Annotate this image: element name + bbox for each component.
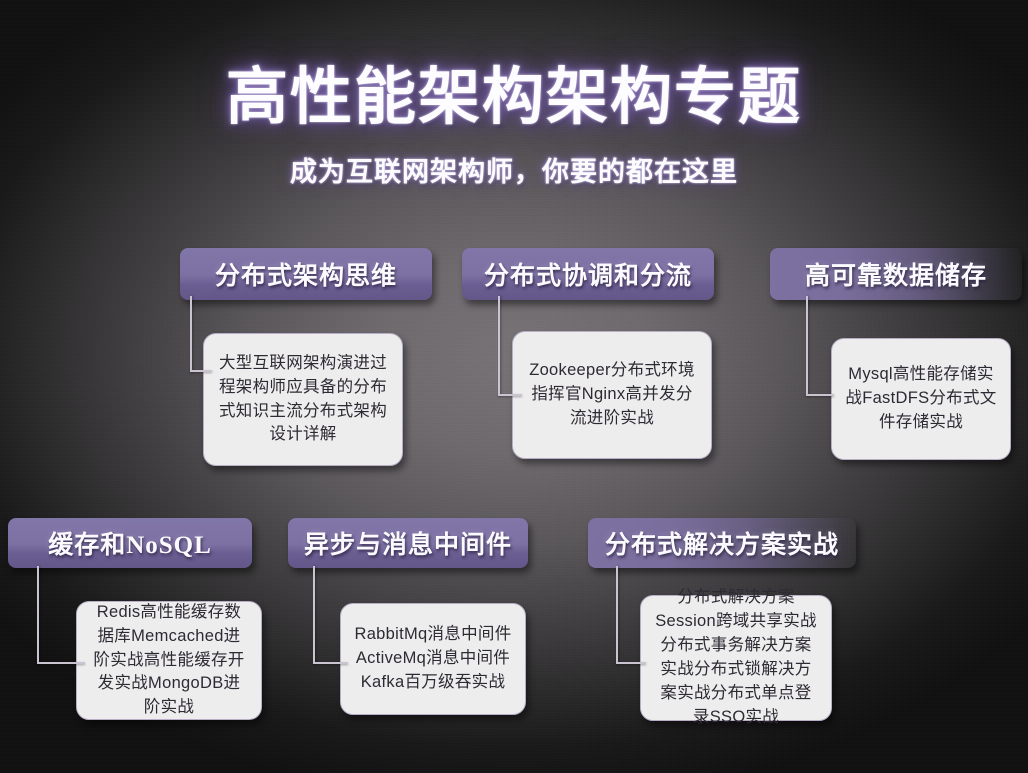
node-card-highly-reliable-data-storage[interactable]: Mysql高性能存储实战FastDFS分布式文件存储实战 (831, 338, 1011, 460)
page-subtitle: 成为互联网架构师，你要的都在这里 (0, 150, 1028, 189)
node-header-label: 分布式架构思维 (209, 256, 403, 292)
node-header-highly-reliable-data-storage[interactable]: 高可靠数据储存 (770, 248, 1022, 300)
node-header-label: 分布式解决方案实战 (599, 525, 845, 561)
node-card-cache-and-nosql[interactable]: Redis高性能缓存数据库Memcached进阶实战高性能缓存开发实战Mongo… (76, 601, 262, 720)
node-card-text: Mysql高性能存储实战FastDFS分布式文件存储实战 (845, 363, 997, 435)
node-card-text: 分布式解决方案Session跨域共享实战分布式事务解决方案实战分布式锁解决方案实… (654, 586, 818, 730)
node-header-cache-and-nosql[interactable]: 缓存和NoSQL (8, 518, 252, 568)
node-card-distributed-architecture-thinking[interactable]: 大型互联网架构演进过程架构师应具备的分布式知识主流分布式架构设计详解 (203, 333, 403, 466)
node-card-text: RabbitMq消息中间件ActiveMq消息中间件Kafka百万级吞实战 (354, 623, 512, 695)
node-header-label: 分布式协调和分流 (478, 256, 698, 292)
node-header-label: 高可靠数据储存 (799, 256, 993, 292)
node-card-distributed-solutions-practice[interactable]: 分布式解决方案Session跨域共享实战分布式事务解决方案实战分布式锁解决方案实… (640, 595, 832, 721)
node-card-distributed-coordination-and-traffic[interactable]: Zookeeper分布式环境指挥官Nginx高并发分流进阶实战 (512, 331, 712, 459)
node-header-async-and-message-middleware[interactable]: 异步与消息中间件 (288, 518, 528, 568)
node-header-distributed-coordination-and-traffic[interactable]: 分布式协调和分流 (462, 248, 714, 300)
node-card-text: Redis高性能缓存数据库Memcached进阶实战高性能缓存开发实战Mongo… (90, 601, 248, 721)
slide-canvas: 高性能架构架构专题 成为互联网架构师，你要的都在这里 分布式架构思维 大型互联网… (0, 0, 1028, 773)
node-card-async-and-message-middleware[interactable]: RabbitMq消息中间件ActiveMq消息中间件Kafka百万级吞实战 (340, 603, 526, 715)
node-header-distributed-solutions-practice[interactable]: 分布式解决方案实战 (588, 518, 856, 568)
node-header-label: 异步与消息中间件 (298, 525, 518, 561)
node-card-text: 大型互联网架构演进过程架构师应具备的分布式知识主流分布式架构设计详解 (217, 352, 389, 448)
page-title: 高性能架构架构专题 (0, 46, 1028, 136)
node-header-label: 缓存和NoSQL (42, 525, 218, 561)
node-header-distributed-architecture-thinking[interactable]: 分布式架构思维 (180, 248, 432, 300)
node-card-text: Zookeeper分布式环境指挥官Nginx高并发分流进阶实战 (526, 359, 698, 431)
